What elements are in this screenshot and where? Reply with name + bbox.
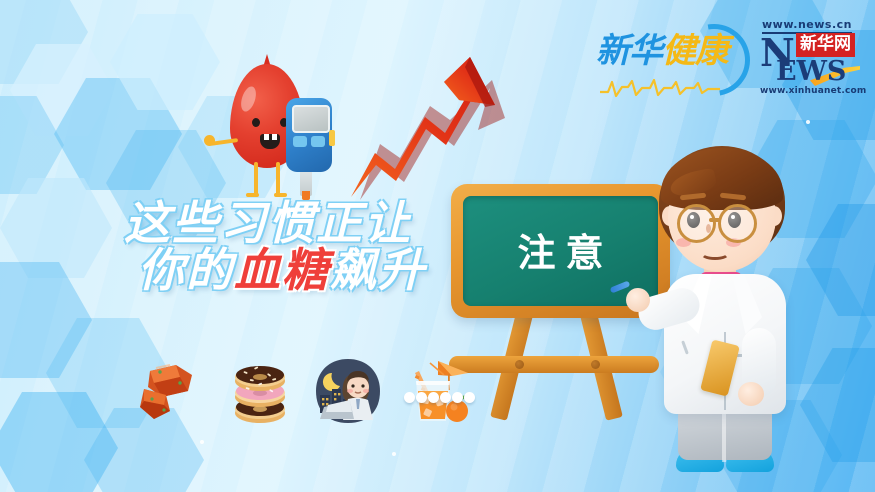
doctor-glasses-right xyxy=(718,204,757,243)
logo-letters-ews: EWS xyxy=(776,58,846,85)
title-line-1: 这些习惯正让 xyxy=(124,200,444,247)
easel-peg-right xyxy=(591,360,600,369)
blood-drop-mascot xyxy=(214,62,334,197)
glucose-meter xyxy=(286,98,332,190)
blood-drop-leg-right xyxy=(276,162,280,196)
poster-canvas: 新华健康 www.news.cn N EWS 新华网 www.xinhuanet… xyxy=(0,0,875,492)
blood-drop-tooth-left xyxy=(264,134,269,140)
doctor-nose xyxy=(706,224,711,233)
meter-side-tab xyxy=(329,130,335,146)
ellipsis-dot xyxy=(440,392,451,403)
ellipsis-dots xyxy=(404,392,476,406)
ellipsis-dot xyxy=(404,392,415,403)
ellipsis-dot xyxy=(452,392,463,403)
title-line-2-prefix: 你的 xyxy=(138,243,234,297)
doctor-hand-raised xyxy=(626,288,650,312)
blood-drop-eye-left xyxy=(252,118,260,127)
doctor-glasses-bridge xyxy=(709,218,721,222)
staying-up-late-icon xyxy=(312,355,384,427)
title-highlight-bloodsugar: 血糖 xyxy=(234,243,330,297)
title-line-2-suffix: 飙升 xyxy=(330,243,426,297)
doctor-hand-lower xyxy=(738,382,764,406)
doctor-glasses-left xyxy=(677,204,716,243)
meter-button-right xyxy=(311,136,325,147)
poster-title: 这些习惯正让 你的血糖飙升 xyxy=(124,200,444,294)
xinhua-health-logo[interactable]: 新华健康 xyxy=(596,24,754,102)
heartbeat-line-icon xyxy=(600,78,720,98)
hexagon-vertex-dot xyxy=(806,120,810,124)
easel-peg-left xyxy=(515,360,524,369)
donuts-icon xyxy=(224,355,296,427)
doctor-mouth xyxy=(700,246,730,260)
title-line-2: 你的血糖飙升 xyxy=(138,247,444,294)
doctor-character xyxy=(634,146,850,446)
hexagon-vertex-dot xyxy=(200,440,204,444)
hexagon-vertex-dot xyxy=(392,452,396,456)
logo-bottom-url: www.xinhuanet.com xyxy=(760,86,867,96)
easel-crossbar xyxy=(449,356,659,373)
xinhuanet-logo[interactable]: www.news.cn N EWS 新华网 www.xinhuanet.com xyxy=(758,18,862,98)
meter-screen xyxy=(292,105,330,133)
blood-drop-leg-left xyxy=(254,162,258,196)
rising-red-arrow-icon xyxy=(345,55,505,205)
braised-pork-icon xyxy=(136,355,208,427)
ellipsis-dot xyxy=(428,392,439,403)
doctor-pants-seam xyxy=(722,414,726,462)
blood-drop-hand xyxy=(204,135,215,146)
blood-drop-tooth-right xyxy=(272,134,277,140)
meter-button-left xyxy=(293,136,307,147)
logo-cn-badge: 新华网 xyxy=(796,33,855,57)
ellipsis-dot xyxy=(464,392,475,403)
sugary-juice-icon xyxy=(400,355,472,427)
logo-health-text-gold: 健康 xyxy=(662,31,728,71)
ellipsis-dot xyxy=(416,392,427,403)
logo-health-text-blue: 新华 xyxy=(596,31,662,71)
